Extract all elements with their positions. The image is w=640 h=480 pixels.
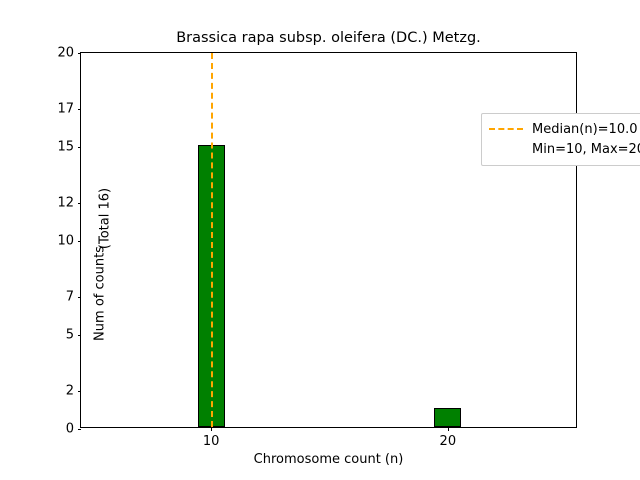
legend-subtitle-row: Min=10, Max=20	[489, 139, 640, 159]
y-tick-mark	[78, 429, 82, 430]
y-tick-label: 7	[66, 290, 74, 305]
y-axis-label-secondary: (Total 16)	[98, 159, 113, 279]
y-tick-label: 2	[66, 384, 74, 399]
chart-title: Brassica rapa subsp. oleifera (DC.) Metz…	[80, 30, 577, 47]
chart-legend: Median(n)=10.0 Min=10, Max=20	[481, 113, 640, 166]
y-tick-label: 17	[57, 102, 74, 117]
median-line	[211, 53, 213, 427]
legend-entry-label: Median(n)=10.0	[532, 122, 638, 137]
median-line-layer	[81, 53, 576, 427]
x-axis-label: Chromosome count (n)	[80, 452, 577, 467]
x-tick-mark	[448, 427, 449, 431]
legend-entry-median: Median(n)=10.0	[489, 119, 640, 139]
legend-subtitle: Min=10, Max=20	[532, 142, 640, 157]
y-tick-mark	[78, 203, 82, 204]
y-tick-mark	[78, 109, 82, 110]
y-tick-mark	[78, 147, 82, 148]
y-tick-mark	[78, 335, 82, 336]
dashed-line-icon	[489, 128, 523, 130]
y-tick-label: 5	[66, 328, 74, 343]
x-tick-label: 20	[440, 434, 457, 449]
y-tick-mark	[78, 297, 82, 298]
y-tick-label: 15	[57, 140, 74, 155]
y-tick-mark	[78, 241, 82, 242]
x-tick-label: 10	[203, 434, 220, 449]
x-tick-mark	[211, 427, 212, 431]
y-tick-mark	[78, 53, 82, 54]
y-tick-label: 12	[57, 196, 74, 211]
plot-area: 02571012151720 1020 Num of counts (Total…	[80, 52, 577, 428]
y-tick-mark	[78, 391, 82, 392]
y-tick-label: 0	[66, 422, 74, 437]
chart-figure: Brassica rapa subsp. oleifera (DC.) Metz…	[0, 0, 640, 480]
y-tick-label: 10	[57, 234, 74, 249]
y-tick-label: 20	[57, 46, 74, 61]
